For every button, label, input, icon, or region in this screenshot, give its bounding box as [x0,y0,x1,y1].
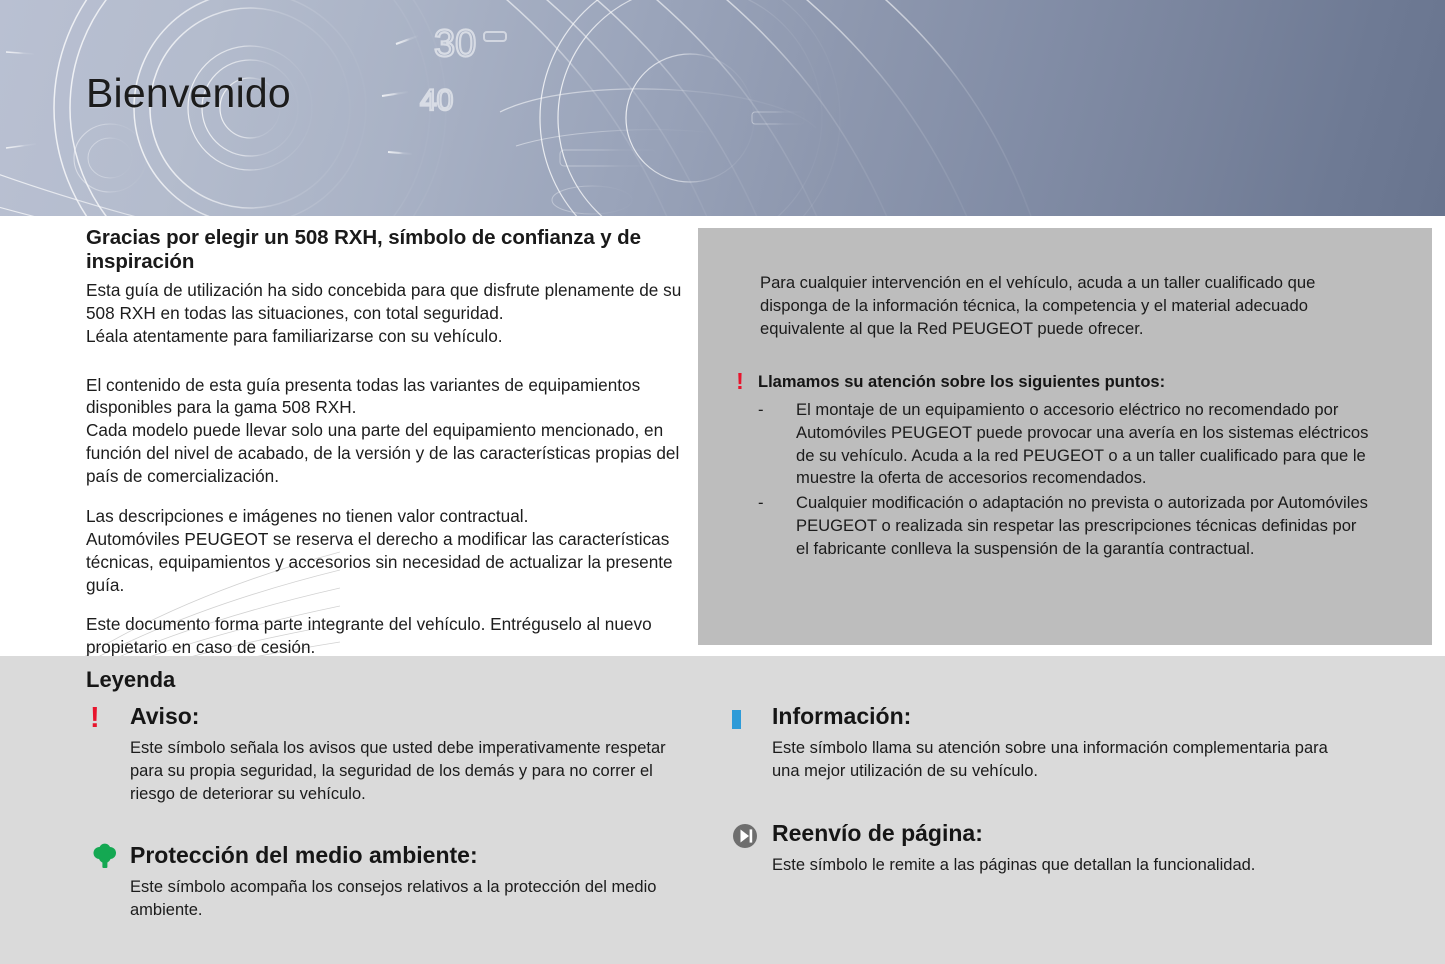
notice-bullet-2: Cualquier modificación o adaptación no p… [796,492,1372,561]
exclamation-icon: ! [732,371,748,391]
page-header: 30 40 Bienvenido [0,0,1445,216]
notice-warning-block: ! Llamamos su atención sobre los siguien… [732,371,1372,563]
page-title: Bienvenido [86,70,291,117]
legend-item-body: Este símbolo llama su atención sobre una… [772,737,1332,783]
legend-item-body: Este símbolo le remite a las páginas que… [772,854,1332,877]
legend-item-informacion: Información: Este símbolo llama su atenc… [728,704,1368,783]
bullet-marker: - [758,492,796,561]
legend-item-body: Este símbolo acompaña los consejos relat… [130,876,690,922]
gauge-label-40: 40 [420,84,453,117]
legend-item-title: Información: [772,704,911,729]
page-forward-icon [728,821,772,851]
intro-heading: Gracias por elegir un 508 RXH, símbolo d… [86,226,686,274]
notice-warning-title: Llamamos su atención sobre los siguiente… [758,371,1165,393]
bullet-marker: - [758,399,796,491]
legend-item-medio-ambiente: Protección del medio ambiente: Este símb… [86,843,706,922]
notice-panel: Para cualquier intervención en el vehícu… [698,228,1432,645]
legend-right-column: Información: Este símbolo llama su atenc… [728,704,1368,898]
legend-left-column: ! Aviso: Este símbolo señala los avisos … [86,704,706,944]
intro-paragraph-3: Las descripciones e imágenes no tienen v… [86,505,686,597]
intro-paragraph-1: Esta guía de utilización ha sido concebi… [86,279,686,348]
intro-paragraph-4: Este documento forma parte integrante de… [86,613,686,656]
intro-section: Gracias por elegir un 508 RXH, símbolo d… [0,216,1445,656]
tree-icon [86,843,130,873]
legend-item-body: Este símbolo señala los avisos que usted… [130,737,690,805]
list-item: - Cualquier modificación o adaptación no… [758,492,1372,561]
notice-intro-text: Para cualquier intervención en el vehícu… [760,272,1340,341]
legend-item-aviso: ! Aviso: Este símbolo señala los avisos … [86,704,706,805]
intro-paragraph-2: El contenido de esta guía presenta todas… [86,374,686,488]
notice-bullet-list: - El montaje de un equipamiento o acceso… [758,399,1372,561]
legend-item-reenvio: Reenvío de página: Este símbolo le remit… [728,821,1368,877]
list-item: - El montaje de un equipamiento o acceso… [758,399,1372,491]
exclamation-icon: ! [86,704,130,734]
legend-heading: Leyenda [86,667,175,693]
gauge-label-30: 30 [434,23,476,65]
legend-item-title: Reenvío de página: [772,821,983,846]
intro-left-column: Gracias por elegir un 508 RXH, símbolo d… [86,226,686,656]
info-i-icon [728,704,772,734]
legend-item-title: Protección del medio ambiente: [130,843,478,868]
notice-bullet-1: El montaje de un equipamiento o accesori… [796,399,1372,491]
legend-section: Leyenda ! Aviso: Este símbolo señala los… [0,656,1445,964]
legend-item-title: Aviso: [130,704,199,729]
